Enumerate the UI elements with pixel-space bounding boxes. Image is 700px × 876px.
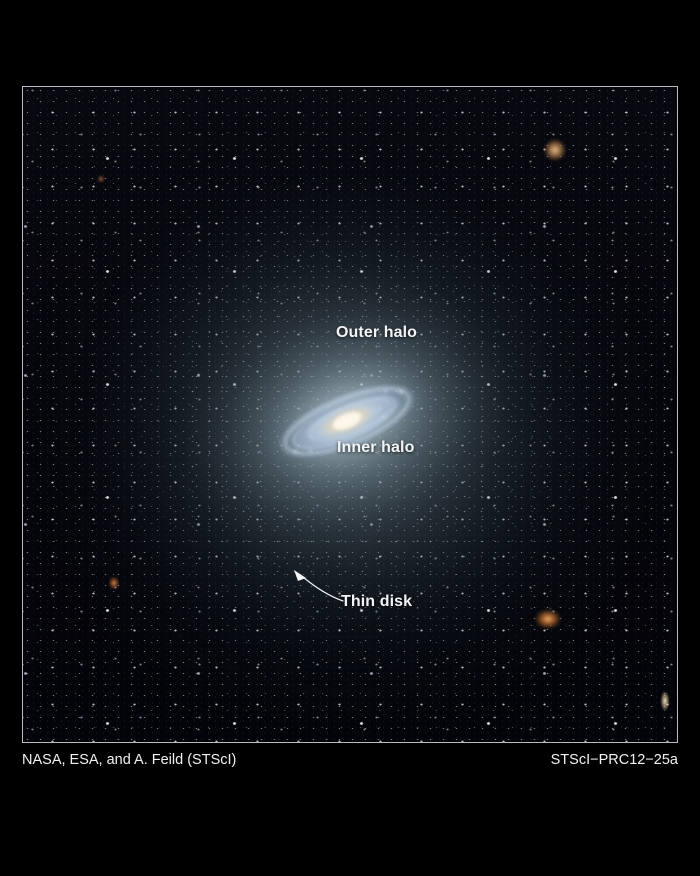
poster-canvas: Milky Way halo structure <box>0 0 700 876</box>
illustration-frame: Outer halo Inner halo Thin disk <box>22 86 678 743</box>
label-inner-halo: Inner halo <box>337 439 414 457</box>
thin-disk-pointer-arrow <box>285 565 355 609</box>
credit-attribution: NASA, ESA, and A. Feild (STScI) <box>22 752 236 768</box>
galaxy-body <box>257 358 437 482</box>
credit-release-id: STScI−PRC12−25a <box>551 752 678 768</box>
label-outer-halo: Outer halo <box>336 324 417 342</box>
